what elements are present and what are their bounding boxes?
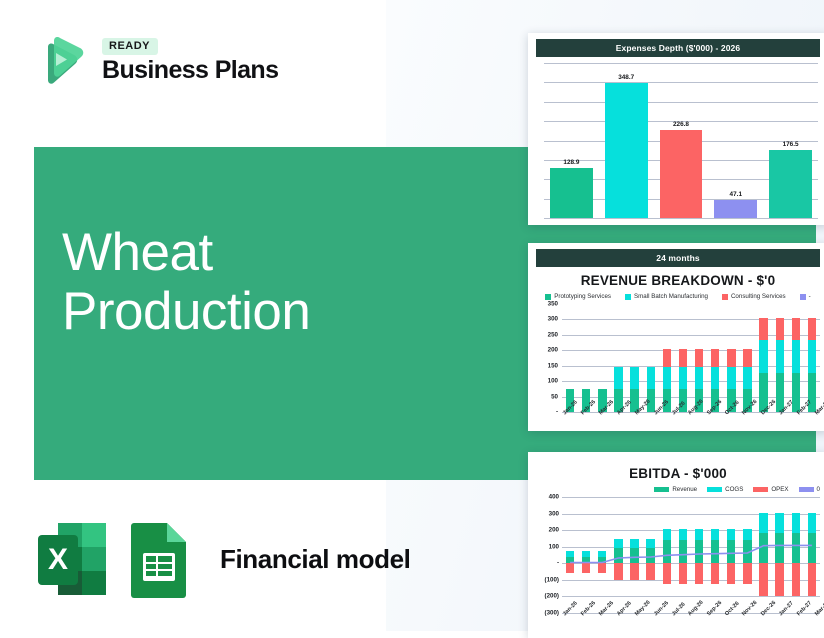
y-tick-label: 150 [536,362,558,369]
stacked-bar[interactable] [808,497,816,613]
bar-slot [772,304,788,412]
bar-segment [695,529,703,540]
bar-segment [711,349,719,367]
legend-label: Prototyping Services [554,293,611,300]
y-tick-label: 200 [536,527,559,534]
bar-slot [788,304,804,412]
bar-group: 128.9348.7226.847.1176.5 [544,63,818,218]
revenue-legend: Prototyping ServicesSmall Batch Manufact… [528,293,824,300]
y-tick-label: 300 [536,510,559,517]
bar-segment [679,563,687,584]
bar-slot [610,497,626,613]
expenses-chart-title: Expenses Depth ($'000) - 2026 [536,39,820,57]
bar-segment [582,563,590,573]
hero-panel: Wheat Production [34,147,544,480]
bar-segment [792,340,800,372]
legend-item-3: 0 [799,486,820,493]
stacked-bar[interactable] [598,497,606,613]
bar-slot [788,497,804,613]
bar-segment [630,539,638,548]
microsoft-excel-icon: X [34,519,110,599]
chart-card-revenue[interactable]: 24 months REVENUE BREAKDOWN - $'0 Protot… [528,243,824,431]
legend-swatch-icon [707,487,722,492]
legend-swatch-icon [545,294,551,300]
legend-swatch-icon [625,294,631,300]
stacked-bar[interactable] [776,318,784,412]
bar[interactable] [769,150,812,218]
bar-segment [775,513,783,534]
chart-card-ebitda[interactable]: EBITDA - $'000 RevenueCOGSOPEX0 40030020… [528,452,824,638]
bar-slot [610,304,626,412]
bar-segment [776,340,784,372]
bar-slot: 226.8 [654,63,709,218]
legend-label: OPEX [771,486,788,493]
format-badges: X Financial model [34,519,411,599]
revenue-chart-header: 24 months [536,249,820,267]
revenue-x-axis: Jan-26Feb-26Mar-26Apr-26May-26Jun-26Jul-… [536,412,820,431]
bar[interactable] [605,83,648,218]
legend-item-2: OPEX [753,486,788,493]
stacked-bar[interactable] [679,497,687,613]
legend-item-2: Consulting Services [722,293,786,300]
bar-slot [739,497,755,613]
stacked-bar[interactable] [711,497,719,613]
bar-segment [759,563,767,596]
bar-value-label: 176.5 [783,141,799,148]
bar-segment [808,340,816,372]
bar-segment [582,551,590,557]
bar-slot [723,497,739,613]
y-tick-label: 100 [536,378,558,385]
bar-segment [695,540,703,563]
y-tick-label: 250 [536,331,558,338]
bar-segment [614,539,622,548]
gridline [544,218,818,219]
bar-slot [659,304,675,412]
bar-slot [707,497,723,613]
bar-segment [598,551,606,557]
legend-item-1: Small Batch Manufacturing [625,293,708,300]
bar-segment [582,557,590,564]
bar-segment [598,563,606,573]
bar-slot [723,304,739,412]
bar-slot: 176.5 [763,63,818,218]
bar-slot [804,304,820,412]
bar-slot [756,497,772,613]
bar-segment [663,367,671,389]
bar-segment [808,513,816,534]
svg-text:X: X [48,543,68,576]
bar-segment [711,529,719,540]
bar-segment [695,563,703,584]
bar-slot [578,304,594,412]
bar-segment [663,540,671,563]
financial-model-label: Financial model [220,544,411,575]
bar-segment [598,557,606,564]
bar-segment [727,529,735,540]
bar-group [562,304,820,412]
legend-label: 0 [817,486,820,493]
brand-lockup: READY Business Plans [102,38,278,83]
bar-slot [578,497,594,613]
bar-segment [727,367,735,389]
bar-slot: 128.9 [544,63,599,218]
bar-slot: 348.7 [599,63,654,218]
bar-slot [804,497,820,613]
legend-label: - [809,293,811,300]
bar-segment [792,563,800,596]
bar-slot [691,304,707,412]
bar-segment [646,539,654,548]
bar-segment [743,349,751,367]
ebitda-plot-area: 400300200100-(100)(200)(300) [536,497,820,613]
bar-slot [594,497,610,613]
y-tick-label: 350 [536,301,558,308]
bar-segment [792,533,800,563]
bar-segment [679,349,687,367]
bar-segment [775,533,783,563]
bar-segment [792,513,800,534]
stacked-bar[interactable] [727,497,735,613]
play-triangle-logo-icon [34,33,90,89]
bar-slot [772,497,788,613]
bar-slot [562,497,578,613]
bar-segment [775,563,783,596]
bar-segment [679,540,687,563]
y-tick-label: (100) [536,576,559,583]
legend-swatch-icon [799,487,814,492]
stacked-bar[interactable] [695,497,703,613]
y-tick-label: 300 [536,316,558,323]
bar-value-label: 128.9 [563,159,579,166]
bar-value-label: 348.7 [618,74,634,81]
y-tick-label: - [536,560,559,567]
stacked-bar[interactable] [743,497,751,613]
bar-segment [614,367,622,389]
brand-logo[interactable]: READY Business Plans [34,33,278,89]
bar-segment [743,563,751,584]
bar-slot [643,497,659,613]
legend-item-3: - [800,293,811,300]
bar-segment [695,349,703,367]
bar-slot [594,304,610,412]
y-tick-label: 200 [536,347,558,354]
bar-slot [675,304,691,412]
bar-slot: 47.1 [708,63,763,218]
bar-segment [646,563,654,579]
bar-slot [691,497,707,613]
bar-segment [646,548,654,563]
legend-swatch-icon [753,487,768,492]
stacked-bar[interactable] [663,497,671,613]
y-tick-label: 50 [536,393,558,400]
bar-segment [727,540,735,563]
bar-slot [643,304,659,412]
x-tick-row: Jan-26Feb-26Mar-26Apr-26May-26Jun-26Jul-… [562,412,820,431]
bar[interactable] [550,168,593,218]
bar-segment [663,349,671,367]
bar-segment [630,548,638,563]
bar-segment [695,367,703,389]
revenue-plot-area: 35030025020015010050- [536,304,820,412]
stacked-bar[interactable] [808,318,816,412]
y-tick-label: 100 [536,543,559,550]
bar-segment [776,318,784,341]
legend-label: Small Batch Manufacturing [634,293,708,300]
ebitda-x-axis: Jan-26Feb-26Mar-26Apr-26May-26Jun-26Jul-… [536,613,820,638]
stacked-bar[interactable] [646,497,654,613]
bar-segment [679,367,687,389]
bar[interactable] [714,200,757,218]
legend-item-0: Revenue [654,486,697,493]
bar-slot [739,304,755,412]
bar-slot [627,497,643,613]
bar-segment [566,563,574,573]
legend-item-1: COGS [707,486,743,493]
expenses-plot-area: 128.9348.7226.847.1176.5 [538,63,818,218]
ebitda-chart-title: EBITDA - $'000 [528,466,824,481]
bar-segment [759,533,767,563]
bar-segment [759,513,767,534]
stacked-bar[interactable] [630,497,638,613]
bar-group [562,497,820,613]
bar-segment [759,318,767,341]
legend-label: Revenue [672,486,697,493]
bar-segment [566,551,574,557]
bar-segment [711,563,719,584]
y-tick-label: (200) [536,593,559,600]
bar-slot [707,304,723,412]
bar-segment [808,533,816,563]
bar-segment [663,563,671,584]
bar[interactable] [660,130,703,218]
legend-swatch-icon [654,487,669,492]
hero-slab-upper [528,225,816,243]
bar-slot [627,304,643,412]
stacked-bar[interactable] [775,497,783,613]
stacked-bar[interactable] [759,497,767,613]
x-tick-row: Jan-26Feb-26Mar-26Apr-26May-26Jun-26Jul-… [562,613,820,638]
bar-segment [743,540,751,563]
bar-slot [756,304,772,412]
stacked-bar[interactable] [582,497,590,613]
slide-canvas: READY Business Plans Wheat Production X [0,0,824,631]
legend-swatch-icon [722,294,728,300]
bar-segment [614,548,622,563]
bar-segment [727,563,735,584]
bar-segment [711,367,719,389]
stacked-bar[interactable] [614,497,622,613]
google-sheets-icon [124,519,200,599]
legend-label: Consulting Services [731,293,786,300]
bar-segment [759,340,767,372]
bar-segment [679,529,687,540]
stacked-bar[interactable] [566,497,574,613]
bar-value-label: 47.1 [730,191,742,198]
bar-slot [659,497,675,613]
legend-swatch-icon [800,294,806,300]
hero-slab-lower [528,431,816,452]
bar-segment [630,367,638,389]
revenue-chart-title: REVENUE BREAKDOWN - $'0 [528,273,824,288]
bar-segment [630,563,638,579]
legend-label: COGS [725,486,743,493]
bar-slot [562,304,578,412]
bar-segment [743,367,751,389]
bar-segment [647,367,655,389]
stacked-bar[interactable] [759,318,767,412]
y-tick-label: 400 [536,494,559,501]
bar-segment [808,318,816,341]
page-title: Wheat Production [62,223,310,342]
bar-value-label: 226.8 [673,121,689,128]
bar-segment [663,529,671,540]
brand-name: Business Plans [102,57,278,83]
bar-segment [743,529,751,540]
bar-segment [614,563,622,579]
stacked-bar[interactable] [792,318,800,412]
legend-item-0: Prototyping Services [545,293,611,300]
bar-segment [566,557,574,564]
bar-segment [711,540,719,563]
bar-segment [727,349,735,367]
stacked-bar[interactable] [792,497,800,613]
ebitda-legend: RevenueCOGSOPEX0 [528,486,824,493]
chart-card-expenses[interactable]: Expenses Depth ($'000) - 2026 128.9348.7… [528,33,824,225]
ready-badge: READY [102,38,158,55]
bar-slot [675,497,691,613]
bar-segment [808,563,816,596]
bar-segment [792,318,800,341]
